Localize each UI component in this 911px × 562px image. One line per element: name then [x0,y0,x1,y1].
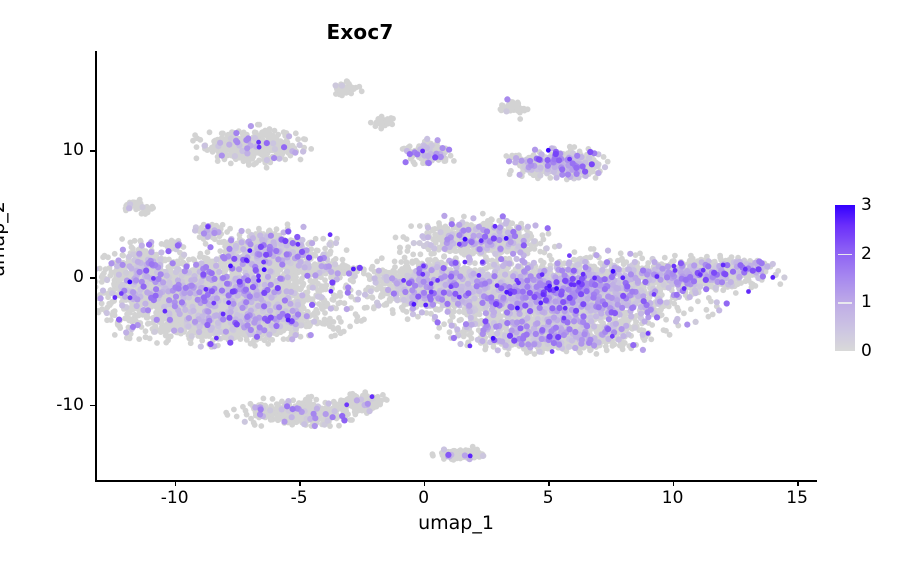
x-axis-label: umap_1 [95,512,817,534]
x-tick-mark [424,481,426,486]
x-tick-mark [548,481,550,486]
y-tick-label: -10 [56,395,84,415]
x-tick-mark [673,481,675,486]
colorbar-tick-label: 0 [861,341,872,361]
y-tick-label: 10 [62,140,84,160]
x-axis-spine [95,480,817,482]
x-tick-mark [299,481,301,486]
y-tick-label: 0 [73,267,84,287]
y-tick-mark [90,405,95,407]
figure-canvas: Exoc7 -10-5051015 -10010 umap_1 umap_2 0… [0,0,911,562]
colorbar-tick-label: 2 [861,244,872,264]
y-tick-mark [90,150,95,152]
x-tick-label: -10 [161,488,189,508]
page-title: Exoc7 [0,20,720,44]
y-axis-label: umap_2 [0,201,9,277]
colorbar-gradient [835,205,855,351]
colorbar-legend: 0123 [835,205,905,351]
x-tick-label: 10 [662,488,684,508]
scatter-points [95,51,817,481]
y-axis-spine [95,51,97,481]
colorbar-tick-mark [838,254,852,256]
y-tick-mark [90,277,95,279]
x-tick-mark [797,481,799,486]
colorbar-tick-label: 3 [861,195,872,215]
x-tick-label: -5 [291,488,308,508]
colorbar-tick-label: 1 [861,292,872,312]
x-tick-label: 5 [543,488,554,508]
x-tick-label: 0 [418,488,429,508]
x-tick-label: 15 [786,488,808,508]
x-tick-mark [175,481,177,486]
scatter-plot-area[interactable] [95,51,817,481]
colorbar-tick-mark [838,302,852,304]
